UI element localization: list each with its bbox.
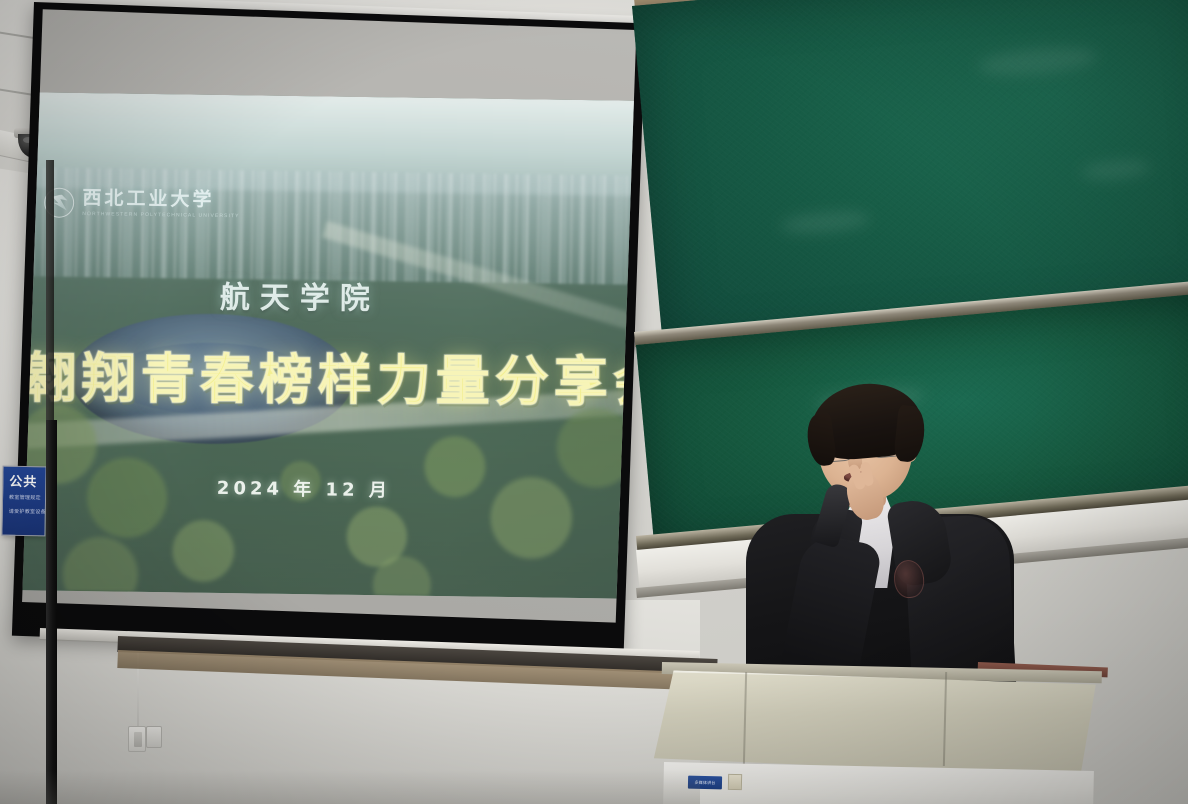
slide-event-title: 翱翔青春榜样力量分享会: [23, 334, 637, 418]
door-frame-upper: [46, 160, 54, 422]
slide-date: 2024 年 12 月: [217, 474, 391, 502]
university-logo: 西北工业大学 NORTHWESTERN POLYTECHNICAL UNIVER…: [44, 187, 240, 220]
wall-sign-subtitle-1: 教室管理规定: [9, 495, 41, 503]
lectern: 多媒体讲台: [648, 662, 1108, 804]
university-name-en: NORTHWESTERN POLYTECHNICAL UNIVERSITY: [82, 212, 239, 219]
projection-screen-frame: 西北工业大学 NORTHWESTERN POLYTECHNICAL UNIVER…: [12, 2, 646, 657]
presenter: [752, 388, 1020, 688]
presenter-hair-right: [893, 405, 927, 464]
projected-slide: 西北工业大学 NORTHWESTERN POLYTECHNICAL UNIVER…: [22, 92, 636, 599]
wall-sign-subtitle-2: 请爱护教室设备: [9, 508, 41, 516]
lecture-hall-photo: 西北工业大学 NORTHWESTERN POLYTECHNICAL UNIVER…: [0, 0, 1188, 804]
wall-sign-title: 公共: [9, 476, 41, 490]
slide-school-name: 航天学院: [220, 272, 380, 317]
projection-screen-surface: 西北工业大学 NORTHWESTERN POLYTECHNICAL UNIVER…: [22, 9, 636, 622]
wall-notice-sign: 公共 教室管理规定 请爱护教室设备: [1, 466, 46, 537]
door-frame-edge: [46, 420, 57, 804]
lectern-front-panel: [654, 670, 1096, 777]
floor-shadow: [0, 770, 700, 804]
wall-outlet: [146, 726, 162, 748]
university-name-cn: 西北工业大学: [83, 189, 241, 210]
lectern-paper-tag: [728, 774, 742, 790]
screen-switch-plate[interactable]: [128, 726, 146, 752]
